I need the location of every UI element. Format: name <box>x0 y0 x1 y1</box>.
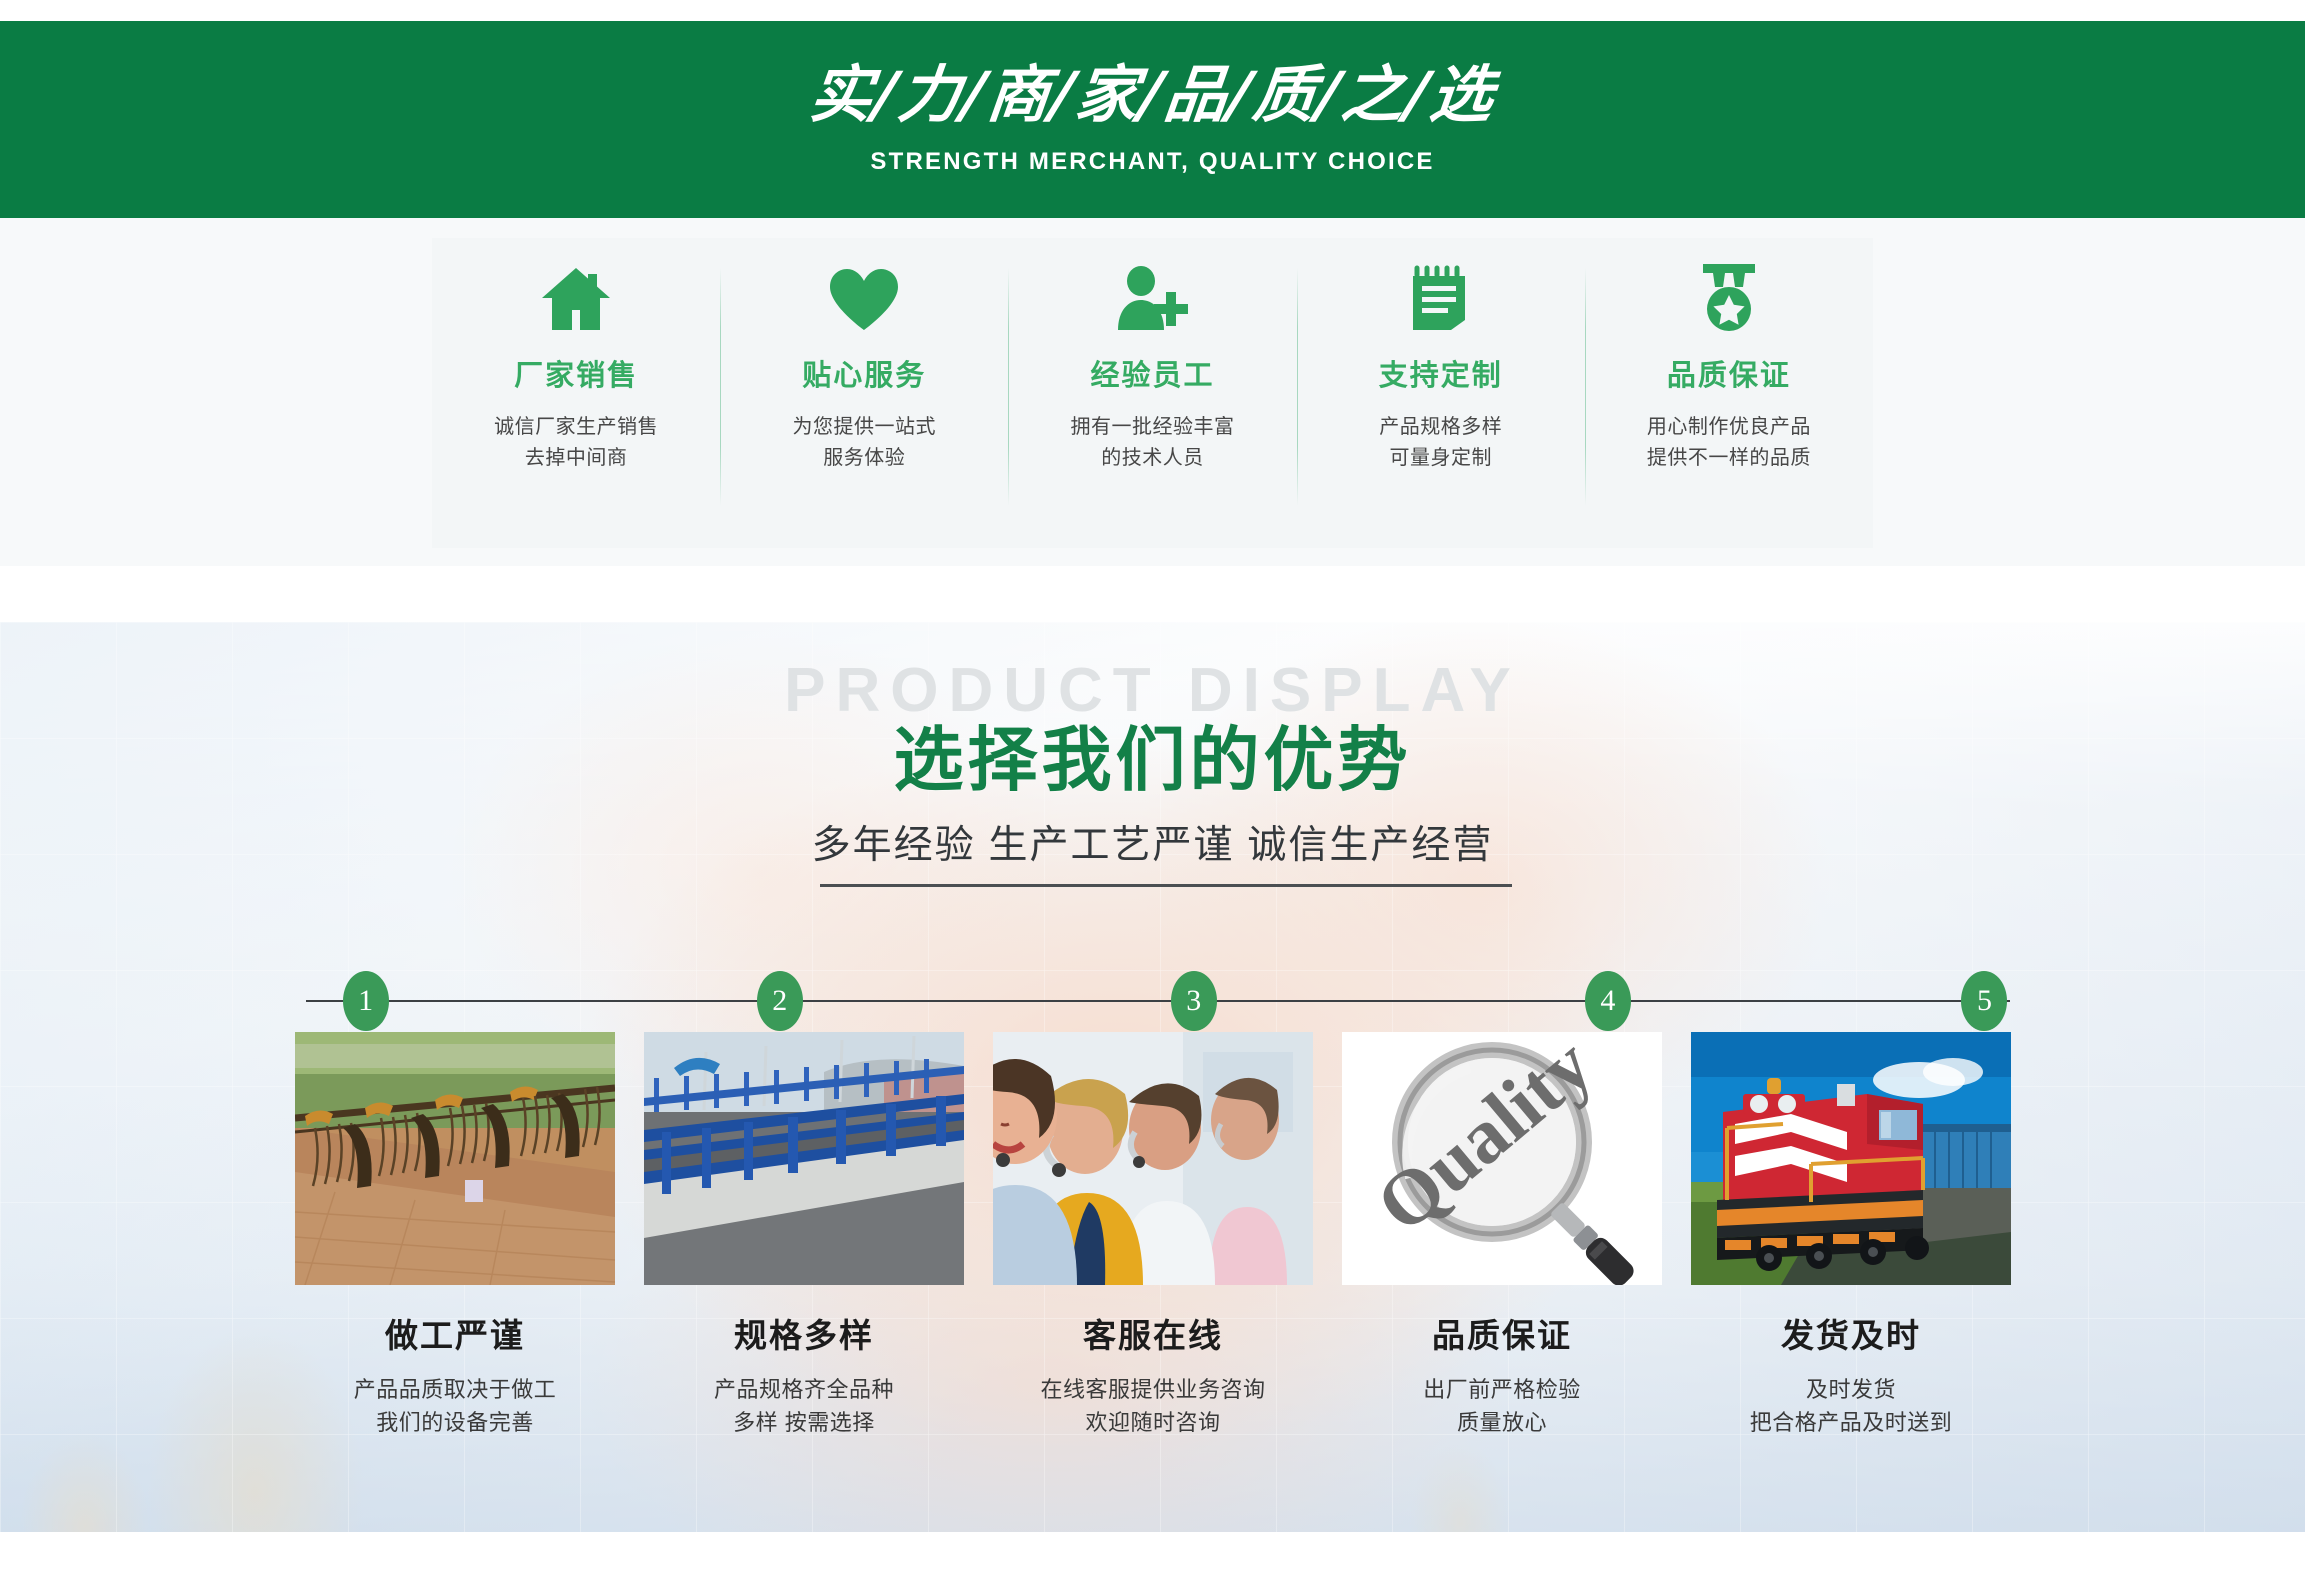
feature-title: 支持定制 <box>1379 352 1503 394</box>
advantage-card[interactable]: 规格多样 产品规格齐全品种 多样 按需选择 <box>644 1032 964 1502</box>
feature-desc-line2: 服务体验 <box>823 447 905 469</box>
feature-desc-line1: 产品规格多样 <box>1379 416 1502 438</box>
feature-desc-line2: 提供不一样的品质 <box>1647 447 1811 469</box>
feature-desc-line2: 可量身定制 <box>1389 447 1492 469</box>
card-title: 品质保证 <box>1432 1309 1572 1357</box>
card-desc: 出厂前严格检验 质量放心 <box>1423 1373 1581 1439</box>
timeline-node-4[interactable]: 4 <box>1585 971 1631 1031</box>
feature-desc: 拥有一批经验丰富 的技术人员 <box>1071 412 1235 474</box>
feature-title: 品质保证 <box>1667 352 1791 394</box>
card-desc-line2: 质量放心 <box>1457 1410 1547 1435</box>
card-desc-line2: 把合格产品及时送到 <box>1750 1410 1953 1435</box>
advantage-card[interactable]: 客服在线 在线客服提供业务咨询 欢迎随时咨询 <box>993 1032 1313 1502</box>
banner-subtitle: STRENGTH MERCHANT, QUALITY CHOICE <box>870 148 1434 176</box>
title-divider <box>820 884 1512 887</box>
card-desc-line1: 及时发货 <box>1806 1377 1896 1402</box>
features-section: 厂家销售 诚信厂家生产销售 去掉中间商 贴心服务 为您提供一站式 服务体验 <box>0 218 2305 566</box>
feature-desc-line2: 去掉中间商 <box>525 447 628 469</box>
advantage-card[interactable]: 做工严谨 产品品质取决于做工 我们的设备完善 <box>295 1032 615 1502</box>
card-desc: 在线客服提供业务咨询 欢迎随时咨询 <box>1040 1373 1265 1439</box>
feature-desc: 产品规格多样 可量身定制 <box>1379 412 1502 474</box>
feature-title: 贴心服务 <box>802 352 926 394</box>
feature-desc-line1: 拥有一批经验丰富 <box>1071 416 1235 438</box>
card-desc-line1: 产品品质取决于做工 <box>354 1377 557 1402</box>
feature-desc-line2: 的技术人员 <box>1101 447 1204 469</box>
landing-page: 实/力/商/家/品/质/之/选 STRENGTH MERCHANT, QUALI… <box>0 0 2305 1577</box>
user-plus-icon <box>1114 260 1192 332</box>
features-panel: 厂家销售 诚信厂家生产销售 去掉中间商 贴心服务 为您提供一站式 服务体验 <box>432 238 1873 548</box>
medal-icon <box>1697 260 1761 332</box>
timeline-node-5[interactable]: 5 <box>1961 971 2007 1031</box>
card-title: 客服在线 <box>1083 1309 1223 1357</box>
feature-item-experienced-staff[interactable]: 经验员工 拥有一批经验丰富 的技术人员 <box>1008 238 1296 548</box>
card-desc-line2: 我们的设备完善 <box>376 1410 534 1435</box>
steps-timeline: 1 2 3 4 5 <box>306 971 2010 1031</box>
card-title: 做工严谨 <box>385 1309 525 1357</box>
timeline-node-3[interactable]: 3 <box>1171 971 1217 1031</box>
house-icon <box>539 260 613 332</box>
feature-desc-line1: 为您提供一站式 <box>793 416 937 438</box>
feature-desc-line1: 用心制作优良产品 <box>1647 416 1811 438</box>
advantage-cards: 做工严谨 产品品质取决于做工 我们的设备完善 <box>295 1032 2011 1502</box>
feature-item-quality-guarantee[interactable]: 品质保证 用心制作优良产品 提供不一样的品质 <box>1585 238 1873 548</box>
advantage-card[interactable]: 发货及时 及时发货 把合格产品及时送到 <box>1691 1032 2011 1502</box>
card-desc: 产品规格齐全品种 多样 按需选择 <box>714 1373 894 1439</box>
advantage-card[interactable]: Quality 品质保证 出厂前严格检验 <box>1342 1032 1662 1502</box>
section-title: 选择我们的优势 <box>0 704 2305 805</box>
hero-banner: 实/力/商/家/品/质/之/选 STRENGTH MERCHANT, QUALI… <box>0 21 2305 218</box>
card-title: 规格多样 <box>734 1309 874 1357</box>
timeline-node-1[interactable]: 1 <box>343 971 389 1031</box>
quality-magnifier-image: Quality <box>1342 1032 1662 1285</box>
feature-item-custom-support[interactable]: 支持定制 产品规格多样 可量身定制 <box>1297 238 1585 548</box>
card-desc-line1: 出厂前严格检验 <box>1423 1377 1581 1402</box>
feature-title: 厂家销售 <box>514 352 638 394</box>
heart-icon <box>828 260 900 332</box>
card-desc-line2: 欢迎随时咨询 <box>1085 1410 1220 1435</box>
section-subtitle: 多年经验 生产工艺严谨 诚信生产经营 <box>0 814 2305 870</box>
card-desc: 及时发货 把合格产品及时送到 <box>1750 1373 1953 1439</box>
card-desc-line1: 在线客服提供业务咨询 <box>1040 1377 1265 1402</box>
freight-train-image <box>1691 1032 2011 1285</box>
notepad-icon <box>1411 260 1471 332</box>
card-desc: 产品品质取决于做工 我们的设备完善 <box>354 1373 557 1439</box>
feature-desc: 诚信厂家生产销售 去掉中间商 <box>494 412 658 474</box>
advantage-section: PRODUCT DISPLAY 选择我们的优势 多年经验 生产工艺严谨 诚信生产… <box>0 622 2305 1532</box>
feature-item-manufacturer-sales[interactable]: 厂家销售 诚信厂家生产销售 去掉中间商 <box>432 238 720 548</box>
banner-title: 实/力/商/家/品/质/之/选 <box>807 64 1498 126</box>
bridge-railing-brown-image <box>295 1032 615 1285</box>
timeline-line <box>306 1000 2010 1002</box>
customer-service-team-image <box>993 1032 1313 1285</box>
feature-desc: 为您提供一站式 服务体验 <box>793 412 937 474</box>
feature-desc: 用心制作优良产品 提供不一样的品质 <box>1647 412 1811 474</box>
feature-item-attentive-service[interactable]: 贴心服务 为您提供一站式 服务体验 <box>720 238 1008 548</box>
feature-desc-line1: 诚信厂家生产销售 <box>494 416 658 438</box>
feature-title: 经验员工 <box>1091 352 1215 394</box>
card-desc-line2: 多样 按需选择 <box>733 1410 875 1435</box>
card-title: 发货及时 <box>1781 1309 1921 1357</box>
card-desc-line1: 产品规格齐全品种 <box>714 1377 894 1402</box>
timeline-node-2[interactable]: 2 <box>757 971 803 1031</box>
bridge-railing-blue-image <box>644 1032 964 1285</box>
